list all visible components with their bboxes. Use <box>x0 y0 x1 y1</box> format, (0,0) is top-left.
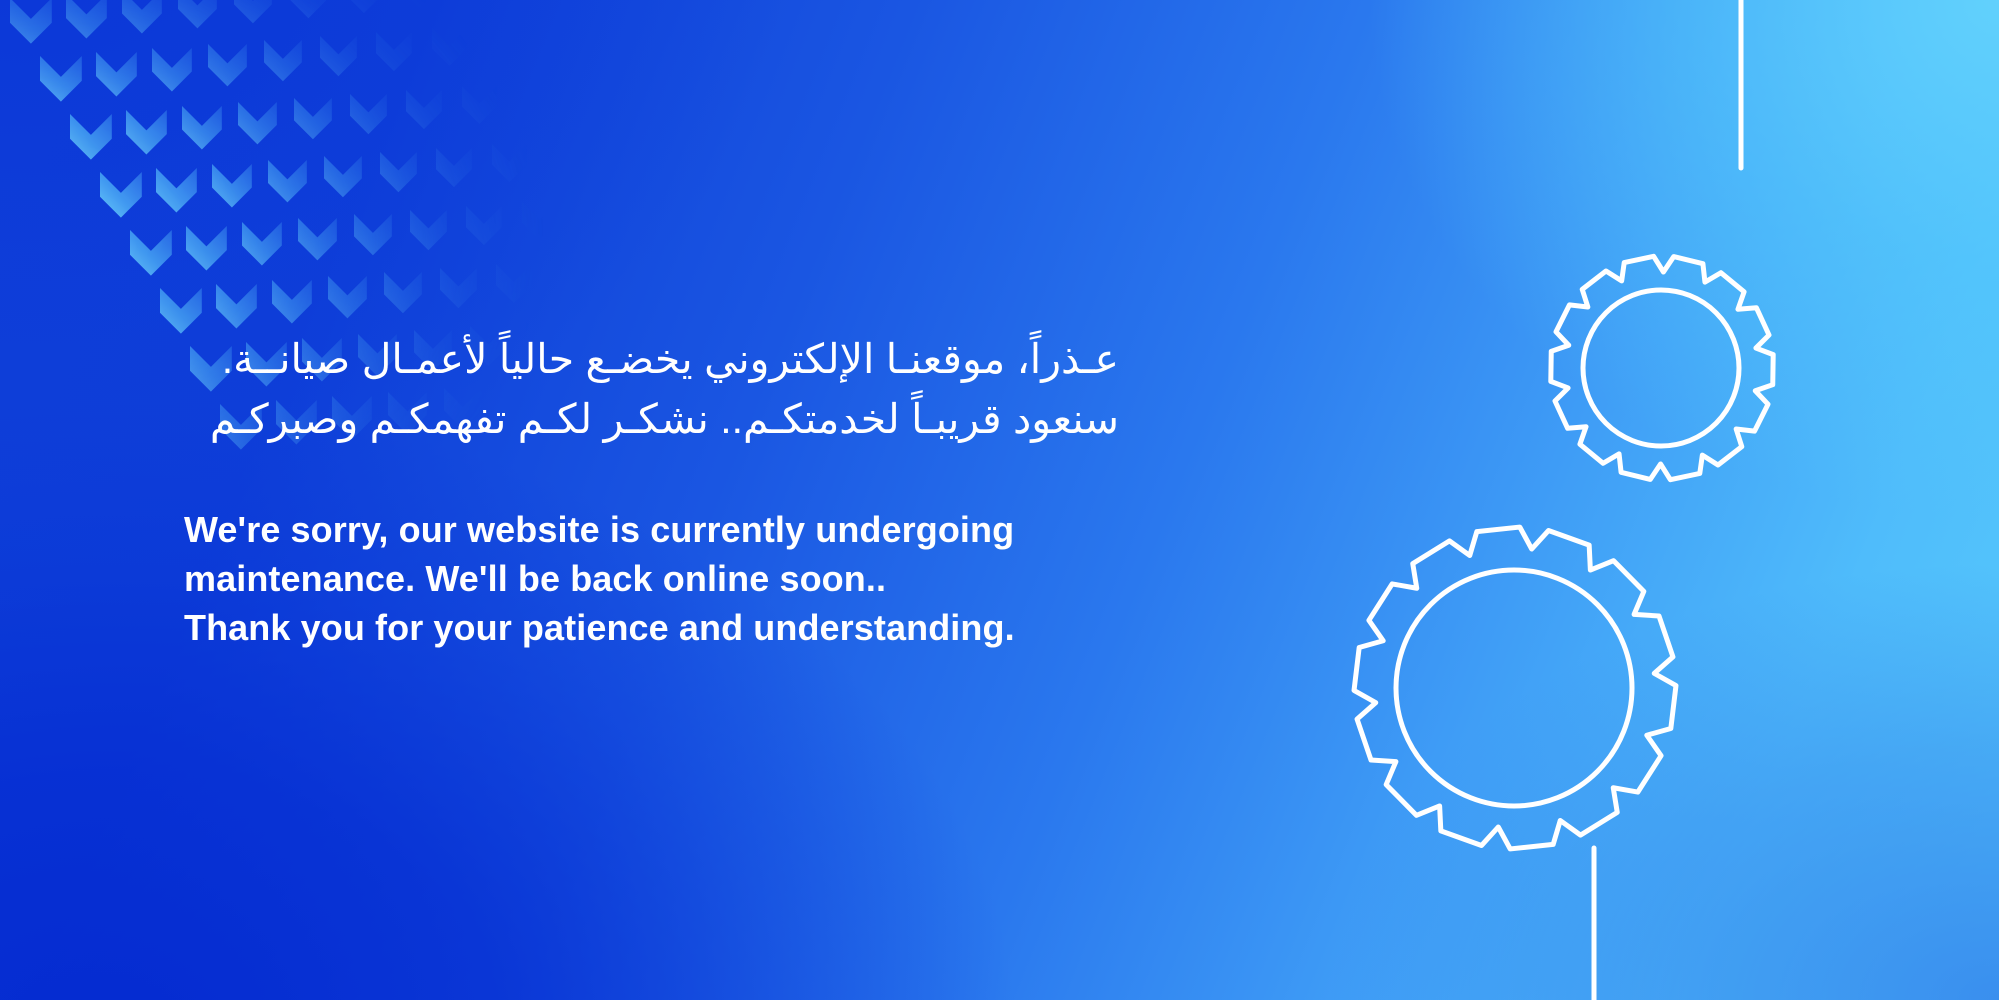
arabic-line-1: عـذراً، موقعنـا الإلكتروني يخضـع حالياً … <box>184 330 1119 390</box>
maintenance-page: عـذراً، موقعنـا الإلكتروني يخضـع حالياً … <box>0 0 1999 1000</box>
arabic-message: عـذراً، موقعنـا الإلكتروني يخضـع حالياً … <box>184 330 1119 450</box>
english-line-1: We're sorry, our website is currently un… <box>184 506 1134 555</box>
english-message: We're sorry, our website is currently un… <box>184 506 1134 653</box>
arabic-line-2: سنعود قريبـاً لخدمتكـم.. نشكـر لكـم تفهم… <box>184 390 1119 450</box>
english-line-2: maintenance. We'll be back online soon.. <box>184 555 1134 604</box>
message-block: عـذراً، موقعنـا الإلكتروني يخضـع حالياً … <box>184 330 1134 653</box>
english-line-3: Thank you for your patience and understa… <box>184 604 1134 653</box>
